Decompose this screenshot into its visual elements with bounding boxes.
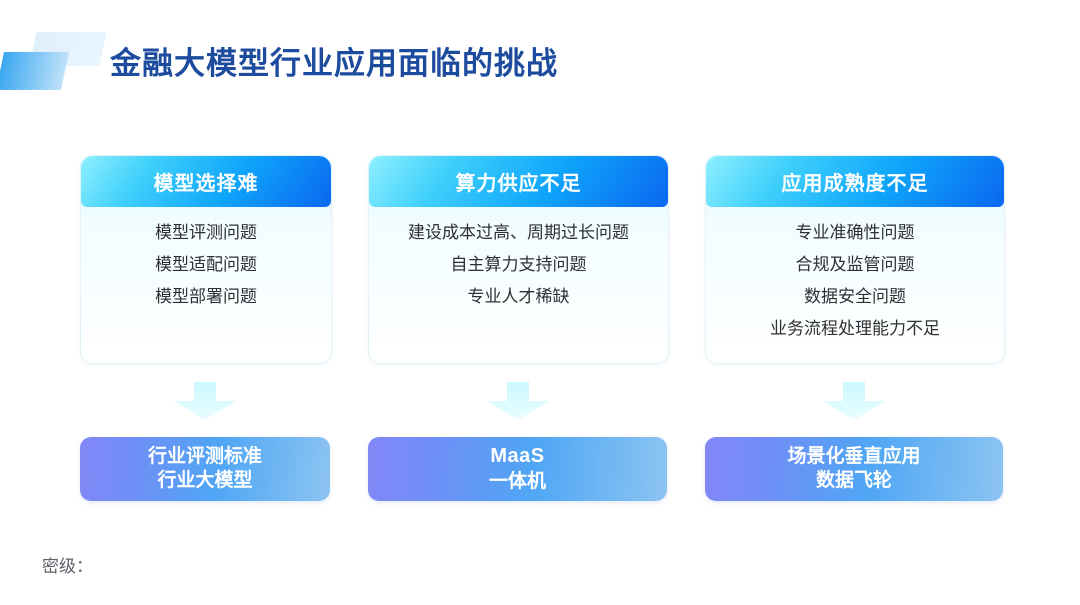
outcome-line-1: 行业评测标准 (148, 445, 262, 469)
page-title: 金融大模型行业应用面临的挑战 (110, 38, 558, 83)
challenge-card[interactable]: 算力供应不足 建设成本过高、周期过长问题 自主算力支持问题 专业人才稀缺 (368, 155, 669, 364)
outcome-line-2: 一体机 (489, 470, 546, 494)
list-item: 专业准确性问题 (796, 222, 915, 245)
list-item: 模型部署问题 (155, 286, 257, 309)
down-arrow-icon (174, 382, 236, 420)
challenge-columns: 模型选择难 模型评测问题 模型适配问题 模型部署问题 行业评测标准 行业大模型 (0, 0, 1080, 605)
confidentiality-label: 密级： (42, 552, 93, 577)
challenge-card-header: 应用成熟度不足 (706, 156, 1004, 207)
outcome-box[interactable]: MaaS 一体机 (368, 437, 667, 501)
list-item: 业务流程处理能力不足 (770, 318, 940, 341)
outcome-box[interactable]: 场景化垂直应用 数据飞轮 (705, 437, 1003, 501)
list-item: 合规及监管问题 (796, 254, 915, 277)
decor-rect-blue (0, 52, 69, 90)
challenge-card-body: 模型评测问题 模型适配问题 模型部署问题 (81, 207, 331, 309)
outcome-line-2: 行业大模型 (157, 469, 252, 493)
outcome-box[interactable]: 行业评测标准 行业大模型 (80, 437, 330, 501)
challenge-column-3: 应用成熟度不足 专业准确性问题 合规及监管问题 数据安全问题 业务流程处理能力不… (705, 155, 1003, 501)
arrow-container (80, 364, 330, 437)
list-item: 模型评测问题 (155, 222, 257, 245)
challenge-column-2: 算力供应不足 建设成本过高、周期过长问题 自主算力支持问题 专业人才稀缺 Maa… (368, 155, 667, 501)
outcome-line-2: 数据飞轮 (816, 469, 892, 493)
outcome-line-1: 场景化垂直应用 (787, 445, 920, 469)
list-item: 自主算力支持问题 (451, 254, 587, 277)
list-item: 专业人才稀缺 (468, 286, 570, 309)
arrow-container (705, 364, 1003, 437)
list-item: 数据安全问题 (804, 286, 906, 309)
down-arrow-icon (487, 382, 549, 420)
arrow-container (368, 364, 667, 437)
outcome-line-1: MaaS (490, 444, 544, 470)
challenge-card[interactable]: 应用成熟度不足 专业准确性问题 合规及监管问题 数据安全问题 业务流程处理能力不… (705, 155, 1005, 364)
challenge-card-body: 专业准确性问题 合规及监管问题 数据安全问题 业务流程处理能力不足 (706, 207, 1004, 341)
down-arrow-icon (823, 382, 885, 420)
challenge-column-1: 模型选择难 模型评测问题 模型适配问题 模型部署问题 行业评测标准 行业大模型 (80, 155, 330, 501)
decorative-corner-mark (0, 0, 120, 110)
list-item: 建设成本过高、周期过长问题 (408, 222, 629, 245)
challenge-card-header: 模型选择难 (81, 156, 331, 207)
challenge-card[interactable]: 模型选择难 模型评测问题 模型适配问题 模型部署问题 (80, 155, 332, 364)
challenge-card-header: 算力供应不足 (369, 156, 668, 207)
list-item: 模型适配问题 (155, 254, 257, 277)
challenge-card-body: 建设成本过高、周期过长问题 自主算力支持问题 专业人才稀缺 (369, 207, 668, 309)
